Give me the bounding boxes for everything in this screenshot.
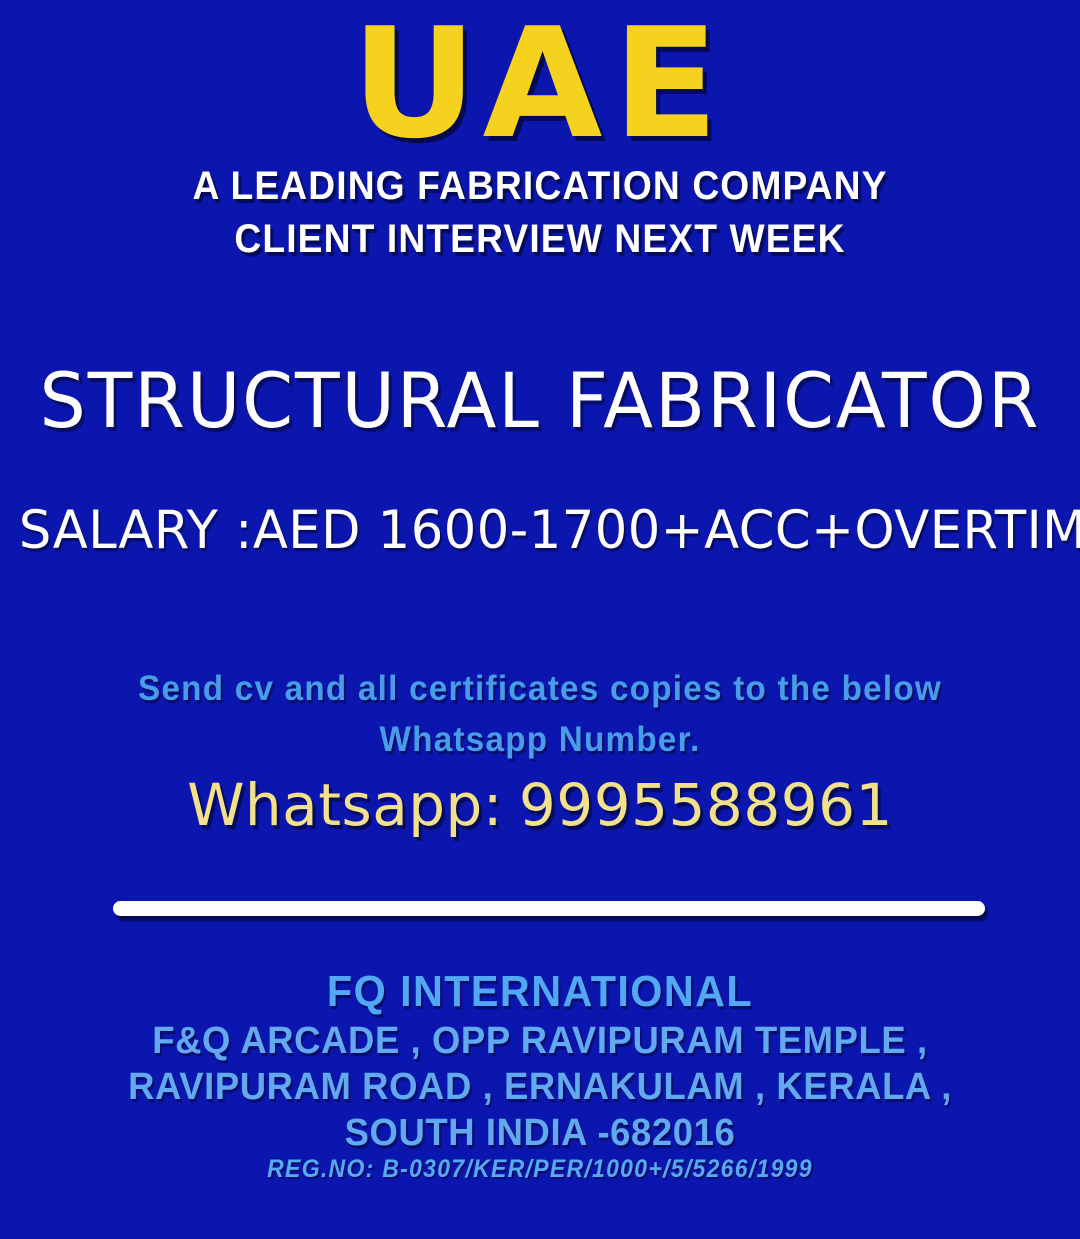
tagline-line-1: A LEADING FABRICATION COMPANY bbox=[38, 166, 1042, 206]
salary-line: SALARY :AED 1600-1700+ACC+OVERTIME bbox=[19, 504, 1061, 557]
whatsapp-label: Whatsapp: bbox=[187, 771, 503, 839]
address-line-3: SOUTH INDIA -682016 bbox=[22, 1114, 1059, 1152]
job-advertisement-poster: UAE A LEADING FABRICATION COMPANY CLIENT… bbox=[0, 0, 1080, 1239]
country-headline: UAE bbox=[0, 8, 1080, 160]
address-line-2: RAVIPURAM ROAD , ERNAKULAM , KERALA , bbox=[22, 1068, 1059, 1106]
whatsapp-number[interactable]: 9995588961 bbox=[519, 771, 893, 839]
whatsapp-contact[interactable]: Whatsapp:9995588961 bbox=[0, 776, 1080, 834]
apply-instruction-line-2: Whatsapp Number. bbox=[27, 722, 1053, 757]
registration-number: REG.NO: B-0307/KER/PER/1000+/5/5266/1999 bbox=[43, 1157, 1037, 1182]
address-line-1: F&Q ARCADE , OPP RAVIPURAM TEMPLE , bbox=[22, 1022, 1059, 1060]
job-title: STRUCTURAL FABRICATOR bbox=[22, 363, 1059, 439]
apply-instruction-line-1: Send cv and all certificates copies to t… bbox=[27, 671, 1053, 706]
company-name: FQ INTERNATIONAL bbox=[32, 970, 1047, 1014]
tagline-line-2: CLIENT INTERVIEW NEXT WEEK bbox=[38, 219, 1042, 259]
section-divider-bar bbox=[113, 901, 985, 916]
